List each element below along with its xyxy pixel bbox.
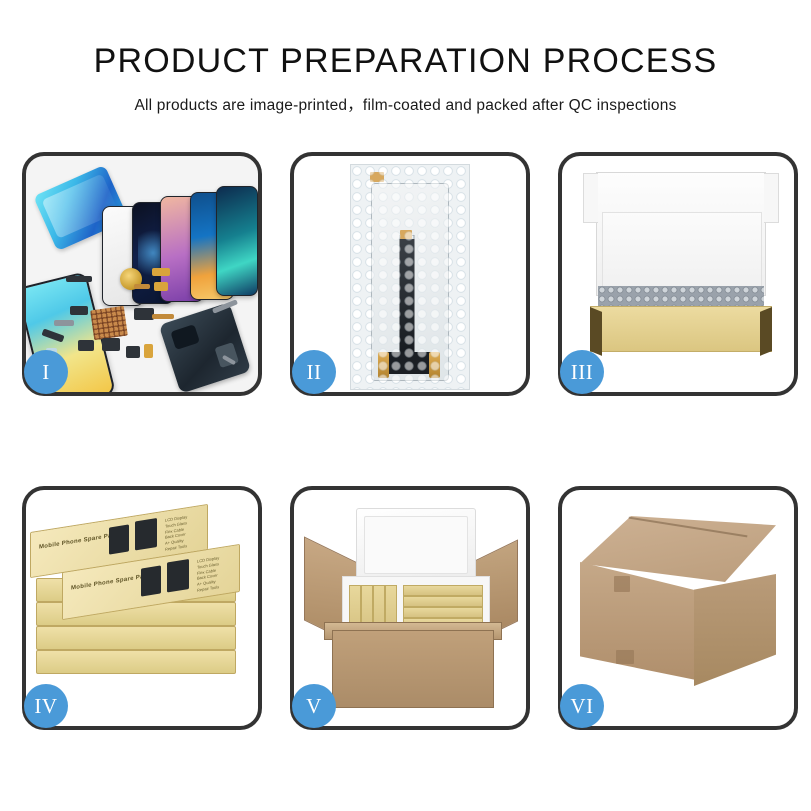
part-strip-icon <box>66 276 92 282</box>
part-bracket-icon <box>54 320 74 326</box>
tape-tab-mid-icon <box>400 230 412 239</box>
gold-box-layer-5 <box>36 650 236 674</box>
part-flex-cable-icon <box>134 284 150 289</box>
step-badge-4: IV <box>24 684 68 728</box>
part-sim-tray-icon <box>144 344 153 358</box>
gold-contact-right-icon <box>429 352 440 378</box>
foam-lid-icon <box>356 508 476 582</box>
process-step-3: III <box>558 152 798 396</box>
process-step-2: II <box>290 152 530 396</box>
carton-body-icon <box>332 630 494 708</box>
gold-box-thumb-b-front <box>167 559 189 592</box>
carton-tape-tab-lower-icon <box>616 650 634 664</box>
foam-sheet-icon <box>602 212 762 288</box>
process-step-4: Mobile Phone Spare Parts LCD DisplayTouc… <box>22 486 262 730</box>
part-earpiece-icon <box>126 346 140 358</box>
gold-box-thumb-b-top <box>135 518 157 550</box>
lcd-flex-cable-icon <box>399 239 414 361</box>
process-step-1: I <box>22 152 262 396</box>
gold-box-specs-top: LCD DisplayTouch GlassFlex CableBack Cov… <box>165 514 187 552</box>
step-badge-3: III <box>560 350 604 394</box>
gold-box-thumb-a-front <box>141 565 161 596</box>
copper-mesh-icon <box>90 306 128 340</box>
part-vibrator-icon <box>78 340 94 351</box>
part-ribbon-icon <box>152 314 174 319</box>
part-connector-icon <box>134 308 154 320</box>
part-button-icon <box>102 338 120 351</box>
tape-tab-top-icon <box>370 172 384 182</box>
phone-fan-group <box>102 192 252 310</box>
header: PRODUCT PREPARATION PROCESS All products… <box>0 0 811 115</box>
packed-gold-box-7 <box>403 607 483 618</box>
process-step-5: V <box>290 486 530 730</box>
part-gold-flex-icon <box>152 268 170 276</box>
product-preparation-infographic: PRODUCT PREPARATION PROCESS All products… <box>0 0 811 811</box>
gold-box-thumb-a-top <box>109 524 129 554</box>
gold-contact-left-icon <box>378 352 389 378</box>
gold-box-stack: Mobile Phone Spare Parts LCD DisplayTouc… <box>30 500 258 720</box>
gold-box-specs-front: LCD DisplayTouch GlassFlex CableBack Cov… <box>197 555 219 593</box>
packed-gold-box-5 <box>403 585 483 596</box>
step-badge-6: VI <box>560 684 604 728</box>
bubble-wrap-bag-icon <box>350 164 470 390</box>
gold-box-layer-4 <box>36 626 236 650</box>
part-camera-module-icon <box>70 306 88 315</box>
part-gold-clip-icon <box>154 282 168 291</box>
sealed-carton-front-icon <box>580 562 696 680</box>
process-step-grid: I II <box>22 152 792 730</box>
gold-box-base-icon <box>590 306 772 352</box>
step-badge-2: II <box>292 350 336 394</box>
packed-gold-box-6 <box>403 596 483 607</box>
carton-tape-tab-upper-icon <box>614 576 630 592</box>
sealed-carton-side-icon <box>694 574 776 686</box>
step-badge-5: V <box>292 684 336 728</box>
page-subtitle: All products are image-printed，film-coat… <box>0 93 811 115</box>
phone-screen-teal-icon <box>216 186 258 296</box>
process-step-6: VI <box>558 486 798 730</box>
step-badge-1: I <box>24 350 68 394</box>
lcd-screen-icon <box>371 183 449 381</box>
page-title: PRODUCT PREPARATION PROCESS <box>0 42 811 81</box>
